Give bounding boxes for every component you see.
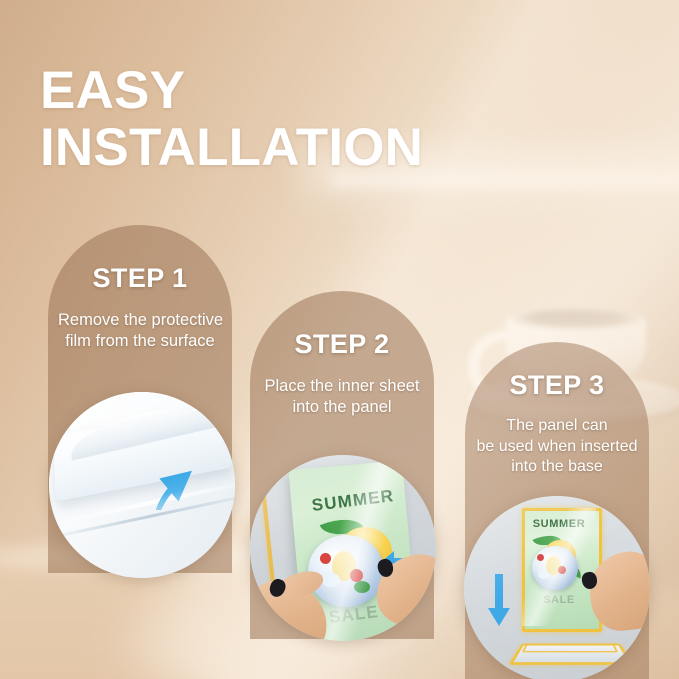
step-3-description-line-1: The panel can [475, 416, 639, 437]
step-1-description-line-1: Remove the protective [58, 310, 222, 331]
page-title-line-1: EASY [40, 62, 423, 119]
standing-panel-gloss [522, 508, 596, 626]
step-1-title: STEP 1 [48, 263, 232, 294]
easy-installation-infographic: EASY INSTALLATION STEP 1 Remove the prot… [0, 0, 679, 679]
step-2-title: STEP 2 [250, 329, 434, 360]
step-2-description: Place the inner sheet into the panel [250, 376, 434, 418]
step-3-title: STEP 3 [465, 370, 649, 401]
step-1-description-line-2: film from the surface [58, 331, 222, 352]
step-3-photo: SUMMER SALE [464, 496, 650, 679]
step-3-description-line-2: be used when inserted [475, 437, 639, 458]
step-2-photo: SUMMER SALE [250, 455, 436, 641]
blue-arrow-down-icon [486, 572, 512, 628]
page-title: EASY INSTALLATION [40, 62, 423, 176]
page-title-line-2: INSTALLATION [40, 119, 423, 176]
step-2-description-line-2: into the panel [260, 397, 424, 418]
step-3-description-line-3: into the base [475, 457, 639, 478]
step-1-description: Remove the protective film from the surf… [48, 310, 232, 352]
gold-base-slot [522, 644, 619, 652]
step-1-photo [49, 392, 235, 578]
blue-curved-arrow-up-right-icon [135, 444, 203, 510]
step-2-description-line-1: Place the inner sheet [260, 376, 424, 397]
step-3-description: The panel can be used when inserted into… [465, 416, 649, 478]
